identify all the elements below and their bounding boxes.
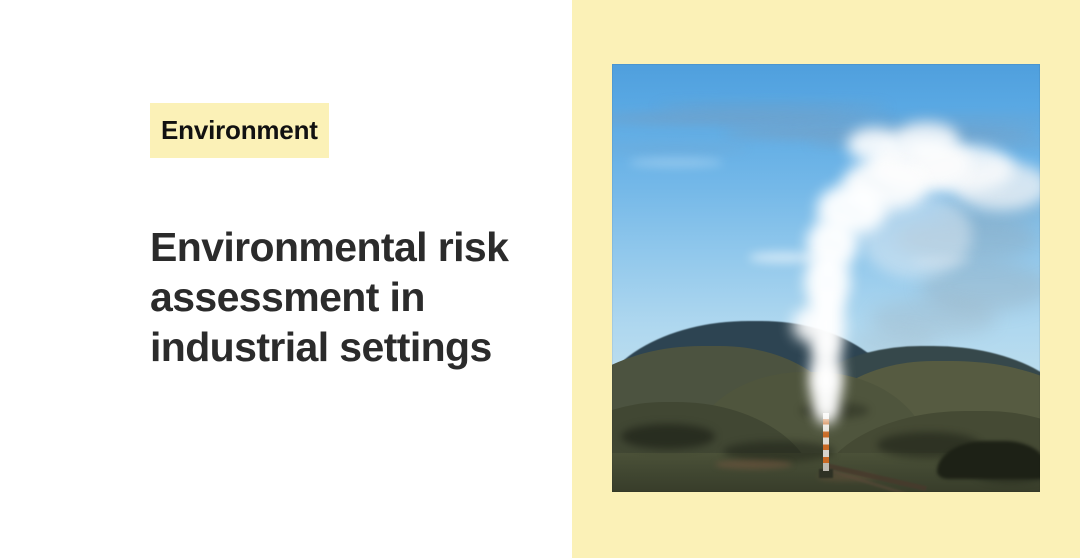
page-title: Environmental risk assessment in industr… [150, 222, 560, 372]
terrain-shadow [621, 424, 715, 450]
smoke-plume [813, 364, 839, 398]
category-badge: Environment [150, 103, 329, 158]
slide-canvas: Environment Environmental risk assessmen… [0, 0, 1080, 558]
category-label-wrap: Environment [150, 103, 329, 158]
smoke-plume [817, 394, 836, 424]
industrial-smokestack-photo [612, 64, 1040, 492]
terrain-shadow [723, 441, 834, 462]
cloud-wisp [629, 158, 723, 167]
cloud-wisp [749, 252, 817, 262]
cloud-band [655, 103, 890, 111]
smoke-plume [894, 122, 958, 156]
text-column: Environment Environmental risk assessmen… [150, 0, 550, 558]
cloud-band [877, 115, 1040, 124]
